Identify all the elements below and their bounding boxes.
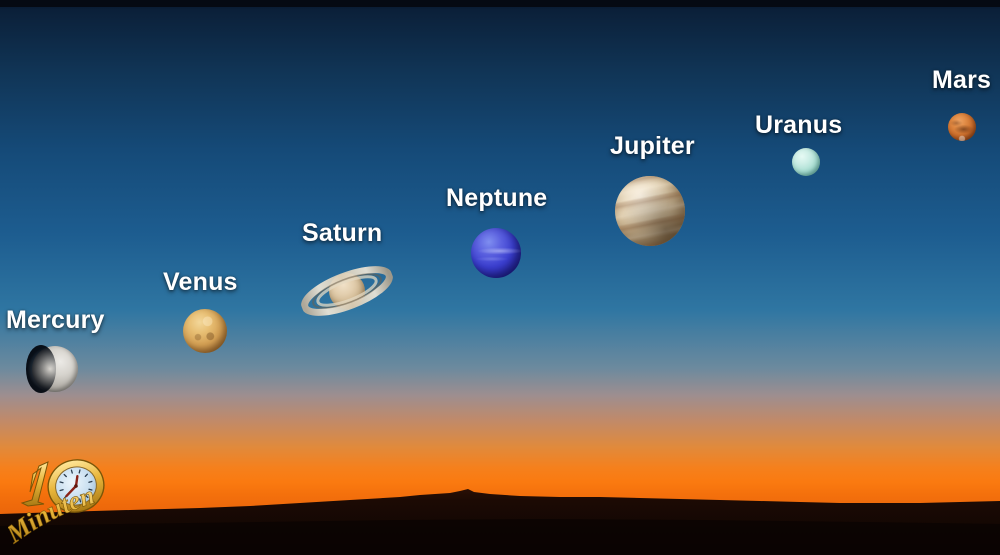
- planet-uranus-icon: [792, 148, 820, 176]
- saturn-rings: [294, 253, 399, 328]
- planet-label-venus: Venus: [163, 270, 238, 295]
- sunset-planets-scene: Mercury Venus Saturn Neptune Jupiter Ura…: [0, 0, 1000, 555]
- planet-mars-icon: [948, 113, 976, 141]
- letterbox-top-bar: [0, 0, 1000, 7]
- planet-label-mercury: Mercury: [6, 308, 105, 333]
- planet-mercury-icon: [32, 346, 78, 392]
- planet-label-mars: Mars: [932, 68, 991, 93]
- planet-label-jupiter: Jupiter: [610, 134, 695, 159]
- planet-jupiter-icon: [615, 176, 685, 246]
- logo-word-minuten: Minuten: [8, 480, 132, 548]
- planet-label-neptune: Neptune: [446, 186, 547, 211]
- jupiter-shading: [615, 176, 685, 246]
- planet-saturn-icon: [303, 255, 391, 327]
- planet-label-saturn: Saturn: [302, 221, 382, 246]
- planet-neptune-icon: [471, 228, 521, 278]
- planet-label-uranus: Uranus: [755, 113, 842, 138]
- watermark-10-minuten-logo: Minuten: [8, 448, 158, 548]
- planet-venus-icon: [183, 309, 227, 353]
